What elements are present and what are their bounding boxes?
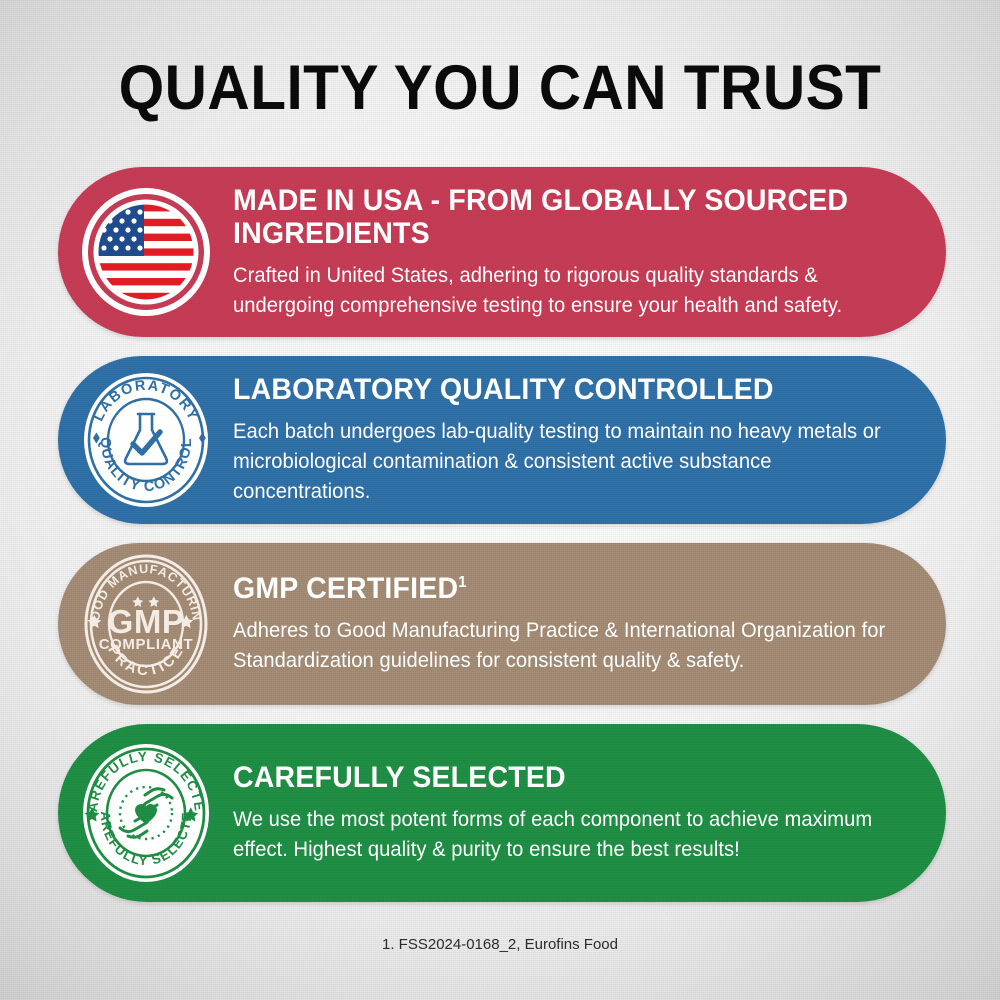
svg-text:COMPLIANT: COMPLIANT (98, 636, 193, 653)
banner-copy: CAREFULLY SELECTED We use the most poten… (233, 761, 946, 865)
banner-heading: GMP CERTIFIED1 (233, 572, 888, 605)
footnote-marker: 1 (458, 574, 466, 591)
banner-laboratory-quality-controlled: LABORATORY QUALITY CONTROL LABORATORY QU… (58, 356, 946, 524)
banner-carefully-selected: CAREFULLY SELECTED CAREFULLY SELECTED (58, 724, 946, 902)
banner-body: Each batch undergoes lab-quality testing… (233, 417, 894, 506)
banner-body: Adheres to Good Manufacturing Practice &… (233, 616, 894, 676)
banner-copy: GMP CERTIFIED1 Adheres to Good Manufactu… (233, 572, 946, 676)
banner-made-in-usa: MADE IN USA - FROM GLOBALLY SOURCED INGR… (58, 167, 946, 337)
gmp-compliant-badge-icon: GOOD MANUFACTURING PRACTICE GMP COMPLIA (58, 551, 233, 697)
banner-heading: CAREFULLY SELECTED (233, 761, 888, 794)
banner-gmp-certified: GOOD MANUFACTURING PRACTICE GMP COMPLIA (58, 543, 946, 705)
banner-body: Crafted in United States, adhering to ri… (233, 261, 894, 321)
banner-heading: LABORATORY QUALITY CONTROLLED (233, 373, 888, 406)
trust-banner-list: MADE IN USA - FROM GLOBALLY SOURCED INGR… (58, 167, 946, 902)
carefully-selected-badge-icon: CAREFULLY SELECTED CAREFULLY SELECTED (58, 740, 233, 886)
us-flag-badge-icon (58, 188, 233, 316)
page-title: QUALITY YOU CAN TRUST (35, 52, 965, 124)
banner-heading: MADE IN USA - FROM GLOBALLY SOURCED INGR… (233, 184, 888, 250)
banner-body: We use the most potent forms of each com… (233, 805, 894, 865)
promo-page: QUALITY YOU CAN TRUST (0, 0, 1000, 1000)
banner-copy: LABORATORY QUALITY CONTROLLED Each batch… (233, 373, 946, 506)
footnote: 1. FSS2024-0168_2, Eurofins Food (0, 936, 1000, 953)
banner-copy: MADE IN USA - FROM GLOBALLY SOURCED INGR… (233, 184, 946, 321)
laboratory-quality-control-badge-icon: LABORATORY QUALITY CONTROL (58, 370, 233, 510)
svg-text:GMP: GMP (107, 603, 184, 640)
banner-heading-text: GMP CERTIFIED (233, 572, 458, 605)
